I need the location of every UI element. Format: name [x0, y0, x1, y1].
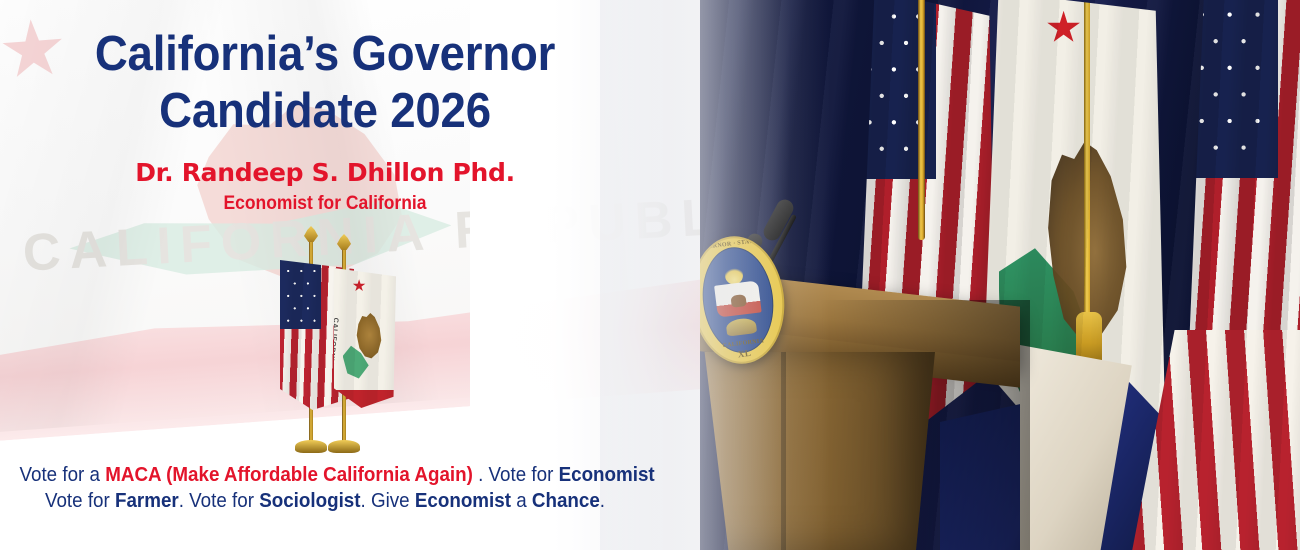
slogan-l2-chance: Chance — [532, 490, 600, 512]
slogan-l2-end: . — [600, 490, 605, 512]
slogan-l2-economist: Economist — [415, 490, 511, 512]
slogan-l2-sociologist: Sociologist — [259, 490, 360, 512]
slogan-l2-farmer: Farmer — [115, 490, 179, 512]
slogan-l2-mid3: a — [511, 490, 532, 512]
flag-base-2 — [328, 440, 360, 453]
podium-body — [695, 352, 935, 550]
campaign-banner: CALIFORNIA REPUBLIC — [0, 0, 1300, 550]
slogan-l2-mid1: . Vote for — [179, 490, 259, 512]
slogan-line-1: Vote for a MACA (Make Affordable Califor… — [20, 462, 631, 488]
mini-california-flag: CALIFORNIA REPUBLIC — [334, 268, 396, 408]
slogan-l1-maca: MACA (Make Affordable California Again) — [105, 464, 473, 486]
headline-line-1: California’s Governor — [23, 26, 628, 83]
candidate-name: Dr. Randeep S. Dhillon Phd. — [0, 158, 650, 187]
mini-flag-pair-photo: CALIFORNIA REPUBLIC — [268, 238, 378, 453]
slogan-l2-lead: Vote for — [45, 490, 115, 512]
flag-base — [295, 440, 327, 453]
candidate-role: Economist for California — [26, 193, 624, 215]
page-title: California’s Governor Candidate 2026 — [0, 26, 650, 140]
slogan-l1-economist: Economist — [559, 464, 655, 486]
flagpole-left — [918, 0, 925, 240]
slogan-l1-lead: Vote for a — [20, 464, 106, 486]
slogan-l2-mid2: . Give — [361, 490, 415, 512]
slogan-l1-mid: . Vote for — [473, 464, 559, 486]
slogan-line-2: Vote for Farmer. Vote for Sociologist. G… — [20, 488, 631, 514]
headline-line-2: Candidate 2026 — [23, 83, 628, 140]
campaign-slogan: Vote for a MACA (Make Affordable Califor… — [0, 462, 650, 514]
